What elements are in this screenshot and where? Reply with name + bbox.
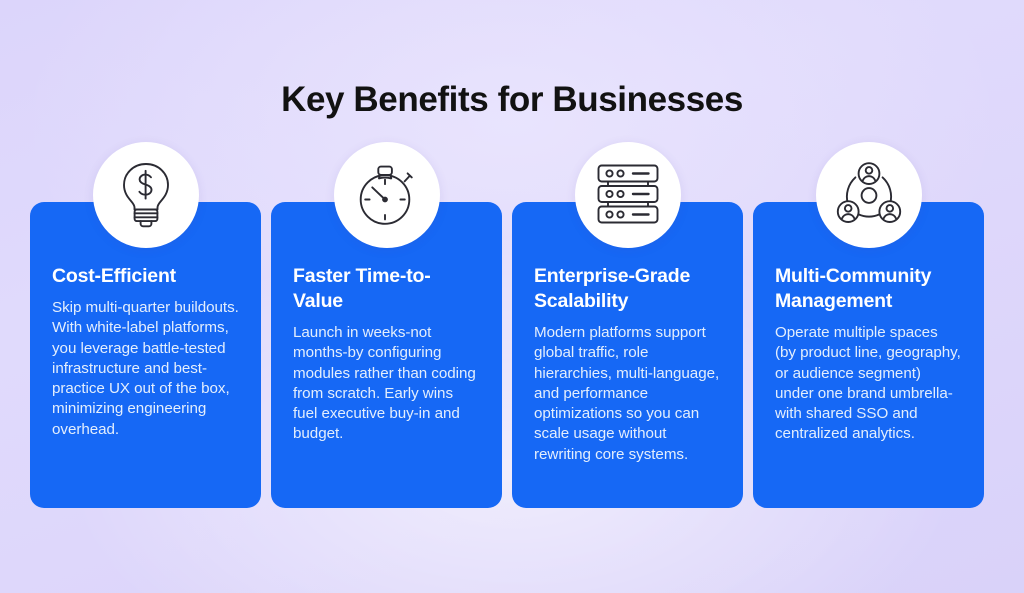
infographic-canvas: Key Benefits for Businesses Cost-Efficie… [0, 0, 1024, 593]
card-title: Enterprise-Grade Scalability [534, 264, 721, 314]
lightbulb-dollar-icon [93, 142, 199, 248]
server-stack-icon [575, 142, 681, 248]
benefit-cards-row: Cost-Efficient Skip multi-quarter buildo… [30, 202, 984, 508]
card-body: Modern platforms support global traffic,… [534, 323, 721, 465]
card-title: Faster Time-to-Value [293, 264, 480, 314]
card-body: Skip multi-quarter buildouts. With white… [52, 298, 239, 440]
page-title: Key Benefits for Businesses [0, 78, 1024, 122]
card-body: Launch in weeks-not months-by configurin… [293, 323, 480, 445]
card-body: Operate multiple spaces (by product line… [775, 323, 962, 445]
benefit-card-faster-time-to-value[interactable]: Faster Time-to-Value Launch in weeks-not… [271, 202, 502, 508]
benefit-card-enterprise-grade-scalability[interactable]: Enterprise-Grade Scalability Modern plat… [512, 202, 743, 508]
benefit-card-multi-community-management[interactable]: Multi-Community Management Operate multi… [753, 202, 984, 508]
card-title: Multi-Community Management [775, 264, 962, 314]
card-title: Cost-Efficient [52, 264, 239, 289]
benefit-card-cost-efficient[interactable]: Cost-Efficient Skip multi-quarter buildo… [30, 202, 261, 508]
community-network-icon [816, 142, 922, 248]
stopwatch-icon [334, 142, 440, 248]
